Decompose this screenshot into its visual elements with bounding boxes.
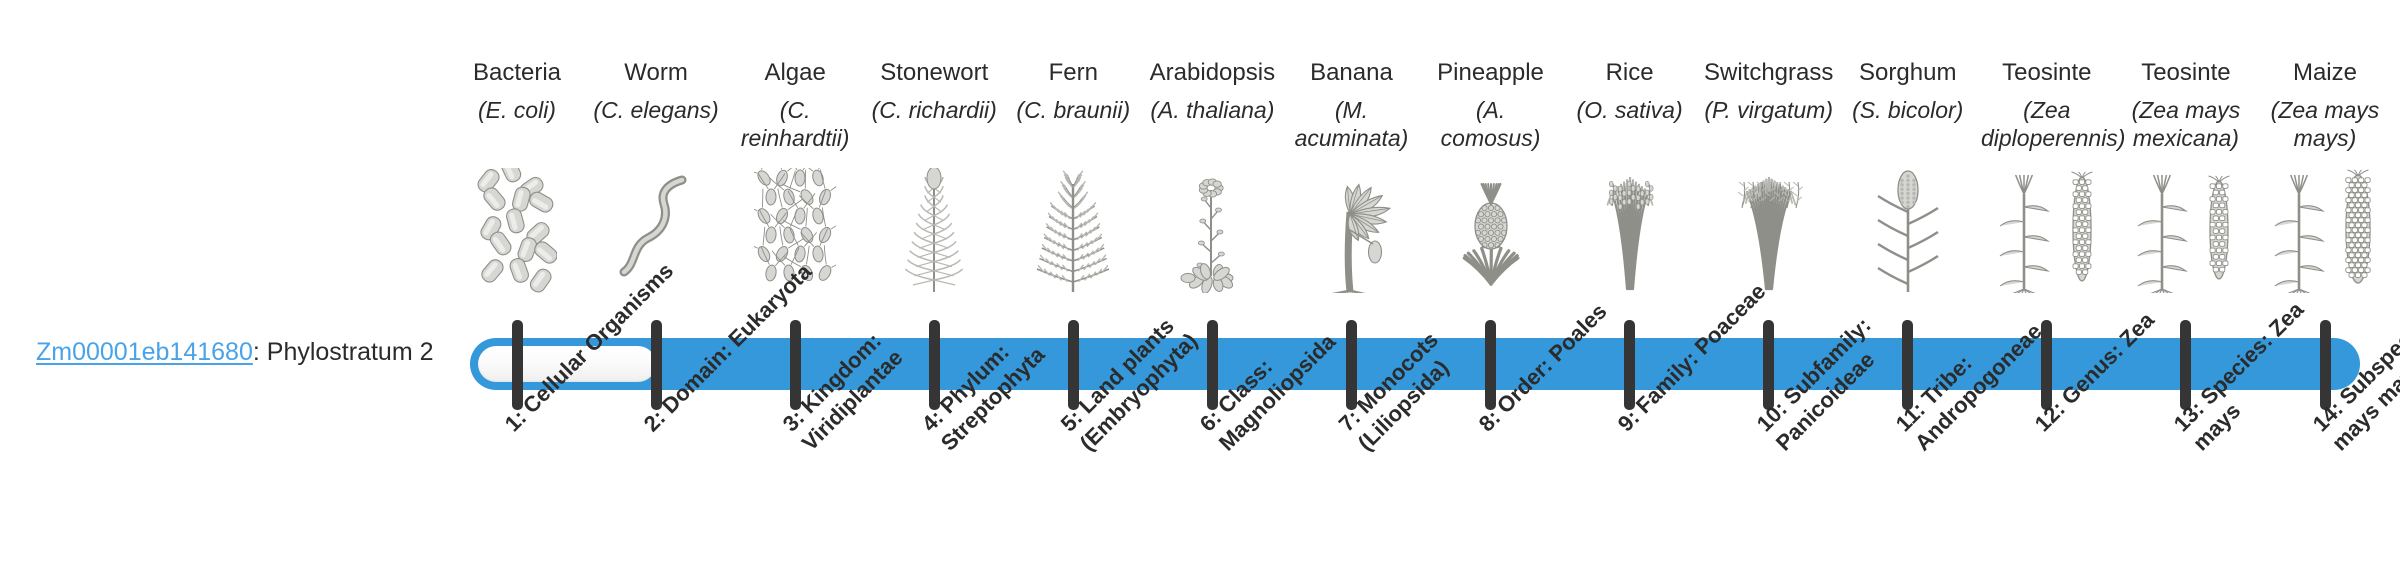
species-common-name: Stonewort — [866, 58, 1002, 88]
species-common-name: Arabidopsis — [1145, 58, 1281, 88]
species-scientific-name: (C. reinhardtii) — [729, 96, 861, 152]
species-scientific-name: (Zea mays mexicana) — [2120, 96, 2252, 152]
species-scientific-name: (P. virgatum) — [1703, 96, 1835, 124]
species-scientific-name: (A. comosus) — [1425, 96, 1557, 152]
bacteria-rods-icon — [449, 168, 585, 293]
species-scientific-name: (M. acuminata) — [1286, 96, 1418, 152]
species-common-name: Pineapple — [1423, 58, 1559, 88]
species-column-bacteria-1: Bacteria(E. coli) — [449, 0, 585, 580]
species-common-name: Worm — [588, 58, 724, 88]
species-scientific-name: (C. elegans) — [590, 96, 722, 124]
species-common-name: Rice — [1562, 58, 1698, 88]
species-common-name: Switchgrass — [1701, 58, 1837, 88]
species-scientific-name: (C. richardii) — [868, 96, 1000, 124]
species-scientific-name: (C. braunii) — [1007, 96, 1139, 124]
gene-label-separator: : — [253, 338, 267, 366]
gene-id-link[interactable]: Zm00001eb141680 — [36, 338, 253, 366]
gene-phylostratum-value: Phylostratum 2 — [267, 338, 434, 366]
species-common-name: Fern — [1005, 58, 1141, 88]
species-common-name: Teosinte — [1979, 58, 2115, 88]
species-common-name: Teosinte — [2118, 58, 2254, 88]
gene-phylostratum-label: Zm00001eb141680: Phylostratum 2 — [36, 336, 456, 368]
species-common-name: Sorghum — [1840, 58, 1976, 88]
phylostratum-figure: Zm00001eb141680: Phylostratum 2 Bacteria… — [0, 0, 2400, 580]
species-common-name: Algae — [727, 58, 863, 88]
species-scientific-name: (E. coli) — [451, 96, 583, 124]
species-scientific-name: (A. thaliana) — [1147, 96, 1279, 124]
species-scientific-name: (O. sativa) — [1564, 96, 1696, 124]
species-scientific-name: (Zea mays mays) — [2259, 96, 2391, 152]
species-scientific-name: (S. bicolor) — [1842, 96, 1974, 124]
species-scientific-name: (Zea diploperennis) — [1981, 96, 2113, 152]
species-common-name: Bacteria — [449, 58, 585, 88]
species-common-name: Maize — [2257, 58, 2393, 88]
species-common-name: Banana — [1284, 58, 1420, 88]
